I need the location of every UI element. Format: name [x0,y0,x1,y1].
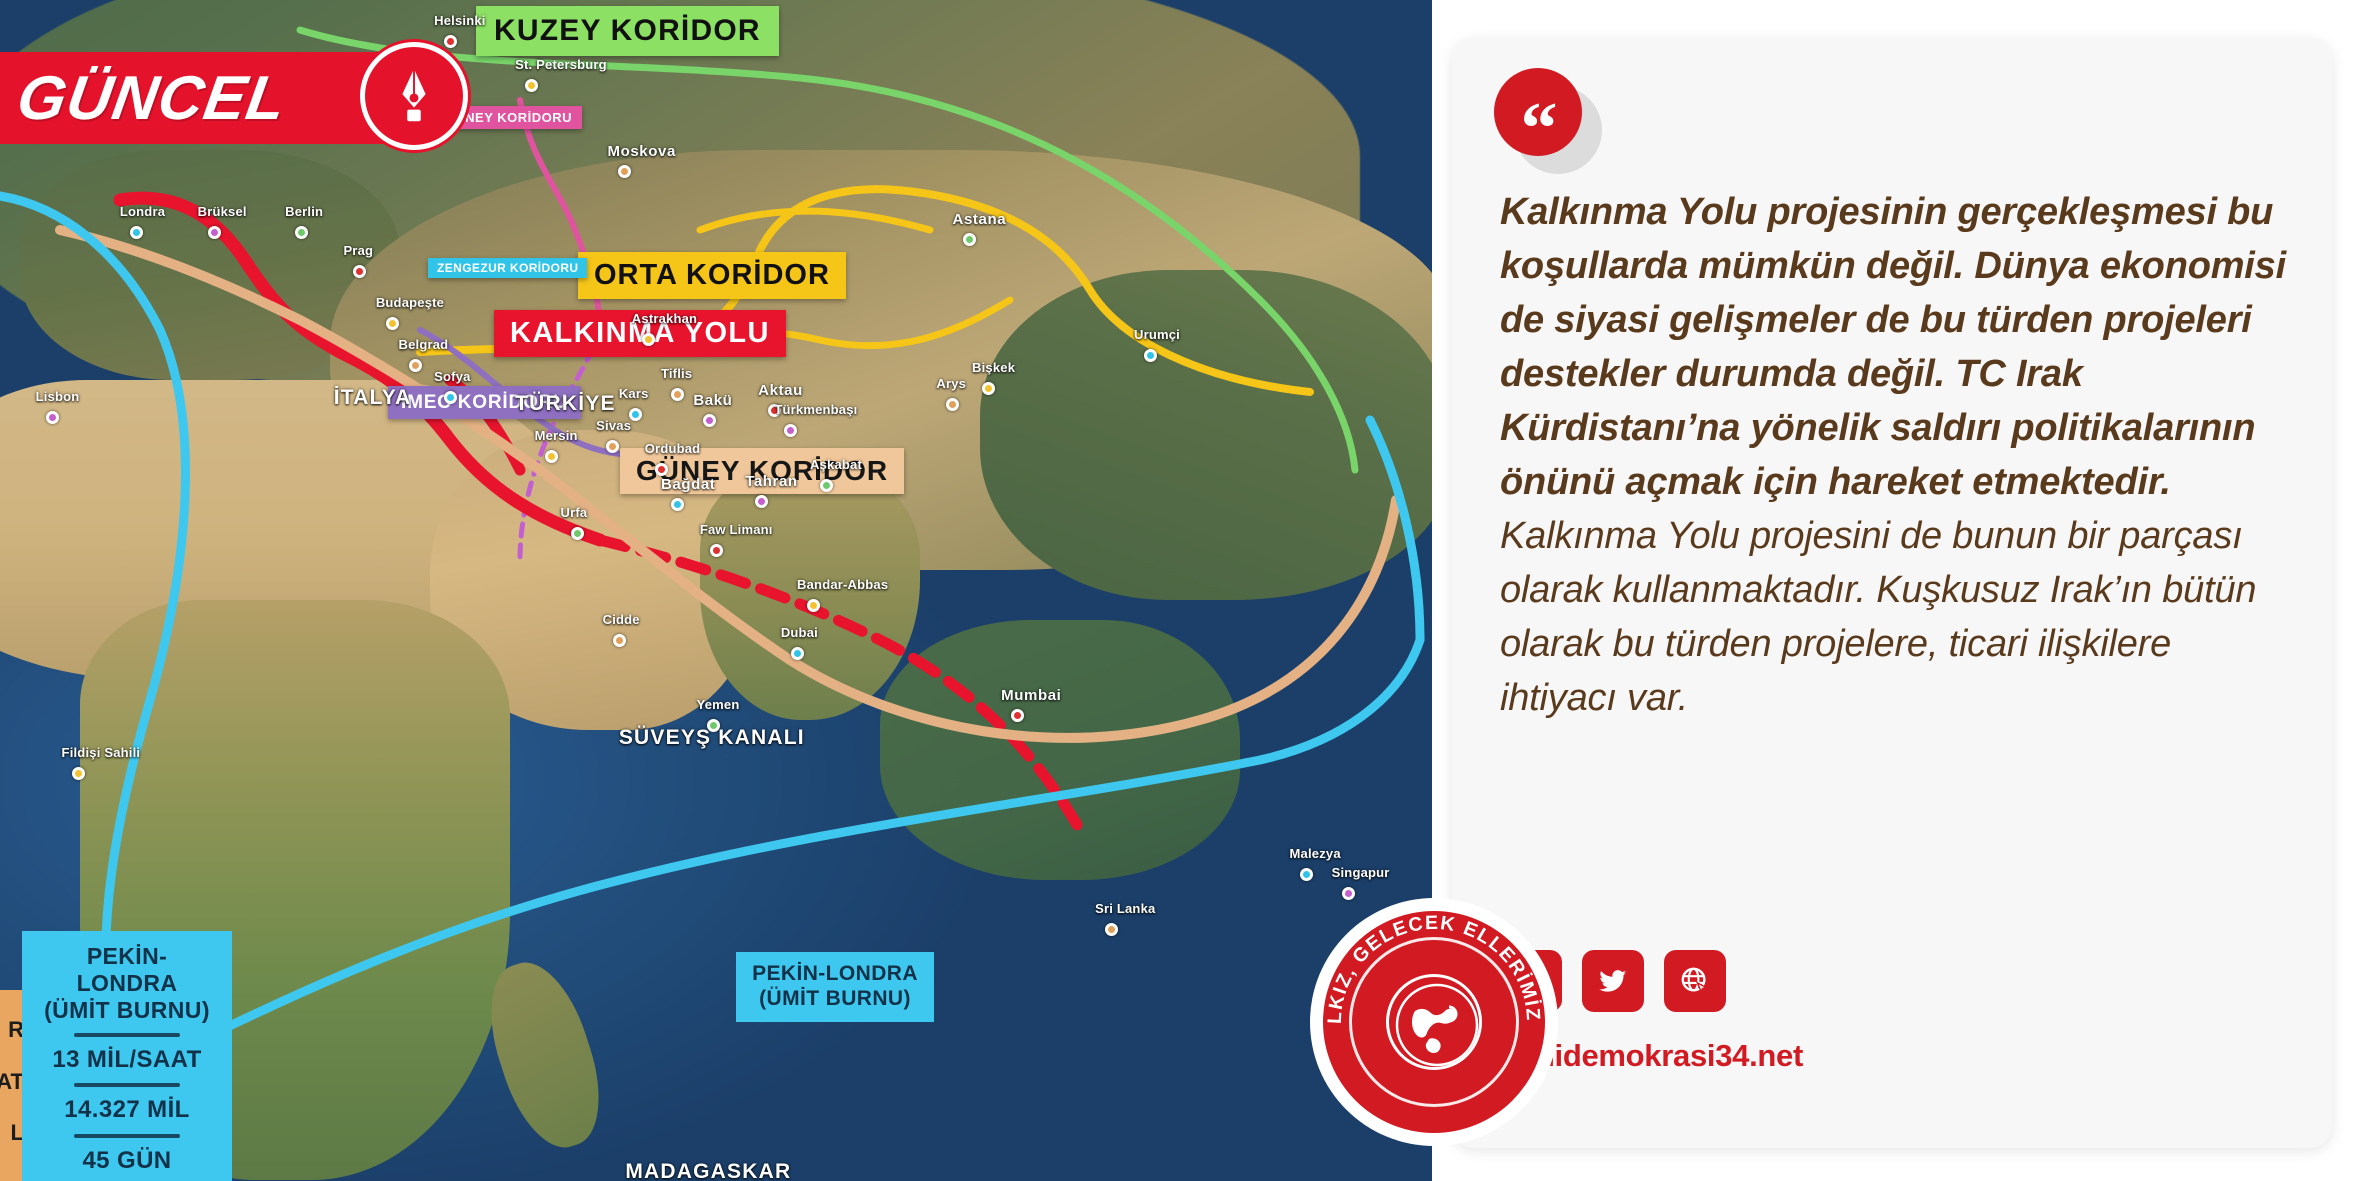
pen-nib-icon [360,42,468,150]
twitter-icon[interactable] [1582,950,1644,1012]
map-place-label: Dubai [781,625,818,640]
stat-divider-3 [74,1134,180,1138]
map-city-dot [386,317,399,330]
map-place-label: Moskova [608,143,676,160]
quote-card: “ Kalkınma Yolu projesinin gerçekleşmesi… [1452,38,2332,1148]
map-city-dot [807,599,820,612]
corridor-label-orta: ORTA KORİDOR [578,252,846,299]
landmass-china [980,270,1450,600]
map-place-label: Fildişi Sahili [62,745,141,760]
map-place-label: Mersin [535,428,578,443]
map-place-label: Cidde [603,612,640,627]
stat-distance: 14.327 MİL [36,1096,218,1124]
map-city-dot [618,165,631,178]
map-place-label: Prag [343,243,373,258]
map-place-label: MADAGASKAR [625,1160,791,1181]
map-city-dot [671,388,684,401]
map-place-label: Urumçi [1134,327,1180,342]
map-place-label: Astana [953,211,1007,228]
map-place-label: Berlin [285,204,323,219]
map-place-label: Tahran [745,473,798,490]
map-city-dot [710,544,723,557]
map-place-label: Arys [936,376,966,391]
map-place-label: Türkmenbaşı [774,402,857,417]
map-city-dot [409,359,422,372]
map-city-dot [1300,868,1313,881]
orange-line-2: AT [0,1056,24,1108]
stat-box-pekin-londra-left: PEKİN- LONDRA (ÜMİT BURNU) 13 MİL/SAAT 1… [22,931,232,1181]
map-city-dot [72,767,85,780]
map-place-label: Ordubad [645,441,701,456]
map-place-label: Urfa [561,505,588,520]
map-city-dot [963,233,976,246]
stat-mid-line2: (ÜMİT BURNU) [748,987,922,1012]
map-place-label: Belgrad [399,337,449,352]
seal-inner: BİZ HALKIZ, GELECEK ELLERİMİZDEDİR! [1323,911,1545,1133]
orange-line-3: L [0,1107,24,1159]
map-place-label: Lisbon [36,389,80,404]
map-place-label: Tiflis [661,366,692,381]
map-city-dot [1342,887,1355,900]
map-place-label: Brüksel [198,204,247,219]
map-city-dot [820,479,833,492]
globe-broken-chains-icon [1386,974,1482,1070]
orange-line-1: R [0,1004,24,1056]
map-place-label: Mumbai [1001,687,1061,704]
quote-badge-group: “ [1494,68,1614,178]
map-place-label: TÜRKİYE [515,392,616,416]
guncel-label: GÜNCEL [12,63,291,134]
stat-divider-1 [74,1033,180,1037]
map-place-label: St. Petersburg [515,57,607,72]
map-place-label: Bişkek [972,360,1015,375]
map-city-dot [130,226,143,239]
organization-seal: BİZ HALKIZ, GELECEK ELLERİMİZDEDİR! [1310,898,1558,1146]
map-city-dot [525,79,538,92]
poster-canvas: GÜNCEL KUZEY KORİDOR ORTA KORİDOR GÜNEY … [0,0,2362,1181]
map-city-dot [46,411,59,424]
map-place-label: Faw Limanı [700,522,773,537]
map-city-dot [642,333,655,346]
map-place-label: Londra [120,204,165,219]
map-place-label: Bandar-Abbas [797,577,888,592]
map-place-label: Singapur [1332,865,1390,880]
corridor-label-kuzey: KUZEY KORİDOR [476,6,779,56]
map-place-label: Aşkabat [810,457,862,472]
quote-paragraph-bold: Kalkınma Yolu projesinin gerçekleşmesi b… [1500,186,2290,510]
map-place-label: Aktau [758,382,803,399]
article-panel: “ Kalkınma Yolu projesinin gerçekleşmesi… [1432,0,2362,1181]
map-city-dot [1011,709,1024,722]
stat-title-line3: (ÜMİT BURNU) [36,997,218,1024]
stat-divider-2 [74,1083,180,1087]
stat-duration: 45 GÜN [36,1147,218,1175]
map-city-dot [1105,923,1118,936]
landmass-southeast-asia [880,620,1240,880]
map-place-label: Helsinki [434,13,485,28]
map-place-label: Malezya [1290,846,1341,861]
stat-title-line1: PEKİN- [36,943,218,970]
map-place-label: Bakü [693,392,732,409]
map-city-dot [571,527,584,540]
map-city-dot [613,634,626,647]
stat-title-line2: LONDRA [36,970,218,997]
map-place-label: Astrakhan [632,311,697,326]
map-place-label: Bağdat [661,476,715,493]
map-place-label: İTALYA [334,386,412,410]
quote-glyph: “ [1521,92,1556,166]
quote-text: Kalkınma Yolu projesinin gerçekleşmesi b… [1500,186,2290,726]
website-icon[interactable] [1664,950,1726,1012]
quote-mark-icon: “ [1494,68,1582,156]
map-city-dot [208,226,221,239]
map-place-label: Budapeşte [376,295,444,310]
map-place-label: Sofya [434,369,470,384]
quote-paragraph-regular: Kalkınma Yolu projesini de bunun bir par… [1500,510,2290,726]
map-place-label: Sivas [596,418,631,433]
map-place-label: Sri Lanka [1095,901,1155,916]
map-place-label: Kars [619,386,649,401]
stat-speed: 13 MİL/SAAT [36,1046,218,1074]
stat-box-pekin-londra-mid: PEKİN-LONDRA (ÜMİT BURNU) [736,952,934,1022]
map-city-dot [707,719,720,732]
map-panel: GÜNCEL KUZEY KORİDOR ORTA KORİDOR GÜNEY … [0,0,1450,1181]
corridor-label-zengezur: ZENGEZUR KORİDORU [428,258,587,278]
map-place-label: Yemen [697,697,740,712]
stat-mid-line1: PEKİN-LONDRA [748,962,922,987]
map-city-dot [655,463,668,476]
map-city-dot [545,450,558,463]
map-city-dot [982,382,995,395]
